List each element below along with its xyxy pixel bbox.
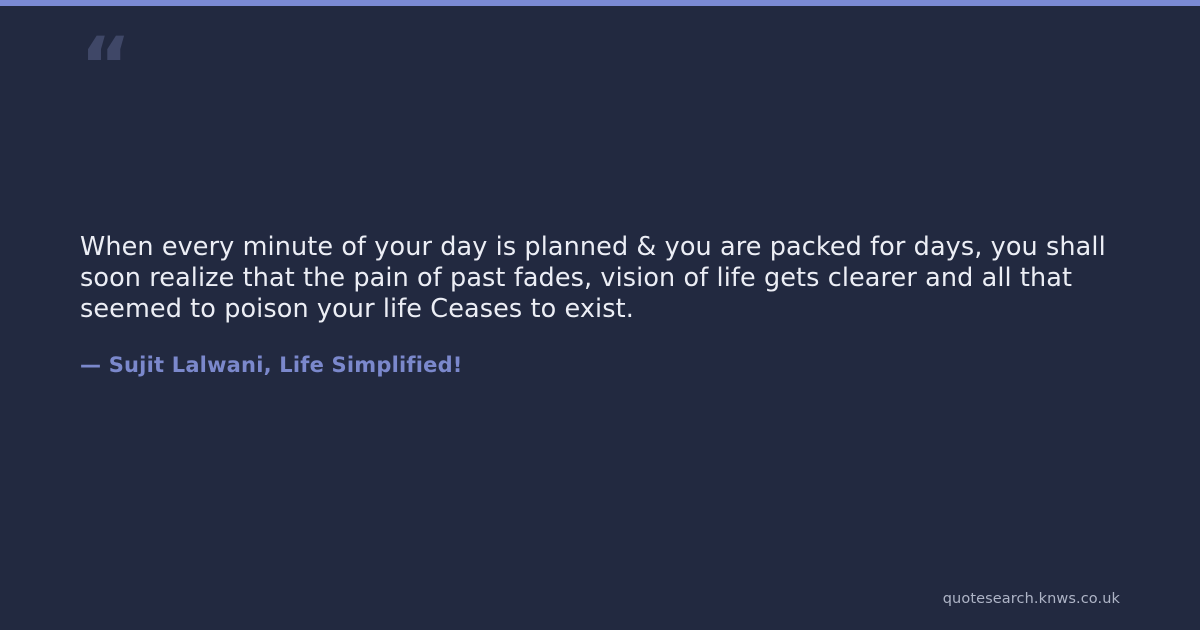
quote-body: When every minute of your day is planned… <box>80 232 1125 379</box>
quote-text: When every minute of your day is planned… <box>80 232 1125 325</box>
quote-content: “ When every minute of your day is plann… <box>80 0 1120 630</box>
open-quote-icon: “ <box>80 28 129 106</box>
source-watermark: quotesearch.knws.co.uk <box>943 590 1120 608</box>
quote-card: “ When every minute of your day is plann… <box>0 0 1200 630</box>
quote-attribution: — Sujit Lalwani, Life Simplified! <box>80 325 1125 379</box>
